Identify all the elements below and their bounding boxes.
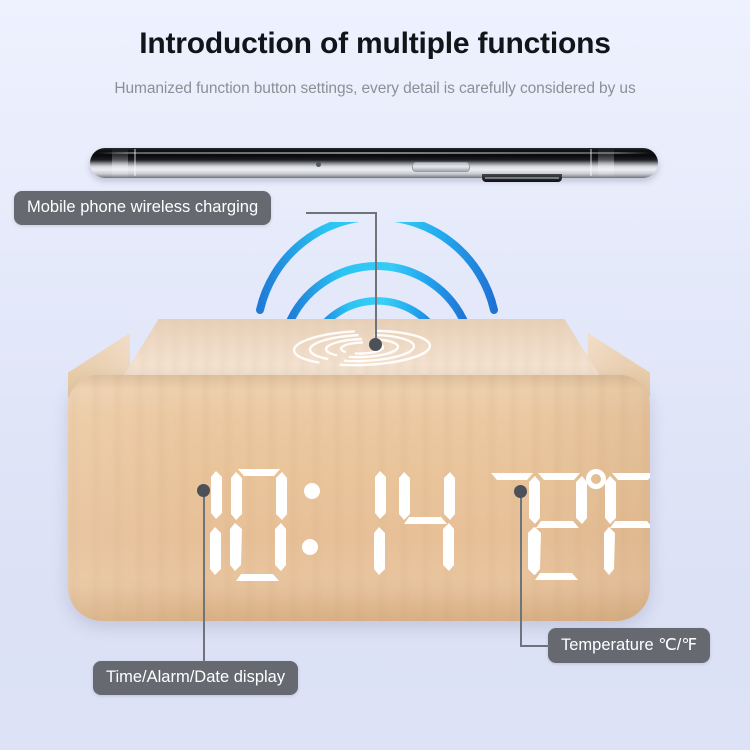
phone-antenna-seam-left bbox=[134, 149, 136, 176]
callout-time-leader-vertical bbox=[203, 490, 205, 662]
callout-charging-leader-horizontal bbox=[306, 212, 376, 214]
callout-time-anchor-dot bbox=[197, 484, 210, 497]
callout-temperature-leader-horizontal bbox=[520, 645, 550, 647]
callout-charging-leader-vertical bbox=[375, 212, 377, 345]
phone-microphone-icon bbox=[316, 162, 321, 167]
callout-charging-label: Mobile phone wireless charging bbox=[27, 198, 258, 217]
phone-power-button bbox=[412, 162, 470, 172]
phone-edge-highlight-right bbox=[598, 148, 614, 178]
page-title: Introduction of multiple functions bbox=[0, 27, 750, 61]
wooden-clock-body bbox=[68, 319, 650, 621]
callout-time-label: Time/Alarm/Date display bbox=[106, 668, 285, 687]
callout-temperature-leader-vertical bbox=[520, 491, 522, 646]
callout-time-alarm-date-display: Time/Alarm/Date display bbox=[93, 661, 298, 695]
phone-antenna-seam-right bbox=[590, 149, 592, 176]
callout-temperature-anchor-dot bbox=[514, 485, 527, 498]
callout-temperature-label: Temperature ℃/℉ bbox=[561, 635, 697, 655]
callout-temperature: Temperature ℃/℉ bbox=[548, 628, 710, 663]
phone-body bbox=[90, 148, 658, 178]
smartphone-side-view bbox=[90, 146, 658, 184]
page-subtitle: Humanized function button settings, ever… bbox=[0, 80, 750, 98]
callout-mobile-phone-wireless-charging: Mobile phone wireless charging bbox=[14, 191, 271, 225]
clock-front-shading bbox=[68, 375, 650, 621]
phone-camera-bump bbox=[482, 174, 562, 182]
charging-pad-rings-icon bbox=[290, 323, 435, 373]
promo-image-scene: Introduction of multiple functions Human… bbox=[0, 0, 750, 750]
callout-charging-anchor-dot bbox=[369, 338, 382, 351]
phone-edge-highlight-left bbox=[112, 148, 128, 178]
